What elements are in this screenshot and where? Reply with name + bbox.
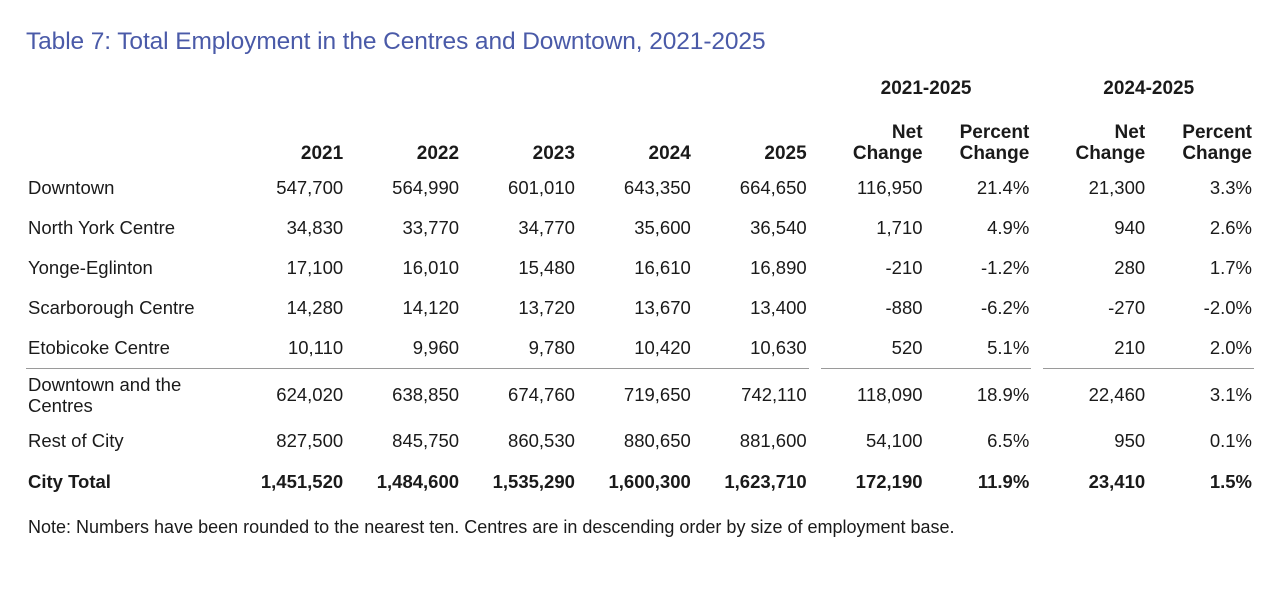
cell-percent-change-2024-2025: 1.7% xyxy=(1147,248,1254,288)
cell-2023: 674,760 xyxy=(461,369,577,422)
cell-gap-1 xyxy=(809,421,821,461)
column-header-net-change-2024-2025: Net Change xyxy=(1043,108,1147,168)
cell-net-change-2024-2025: 280 xyxy=(1043,248,1147,288)
cell-gap-2 xyxy=(1031,208,1043,248)
group-header-spacer-2022 xyxy=(345,72,461,108)
row-label: Downtown xyxy=(26,168,229,208)
group-header-spacer xyxy=(26,72,229,108)
cell-gap-2 xyxy=(1031,168,1043,208)
column-gap-2 xyxy=(1031,72,1043,108)
cell-2023: 601,010 xyxy=(461,168,577,208)
net-change-2-line2: Change xyxy=(1075,143,1145,164)
column-header-area xyxy=(26,108,229,168)
cell-2021: 34,830 xyxy=(229,208,345,248)
column-gap-4 xyxy=(1031,108,1043,168)
cell-2024: 643,350 xyxy=(577,168,693,208)
column-header-row: 2021 2022 2023 2024 2025 Net Change Perc… xyxy=(26,108,1254,168)
cell-2021: 827,500 xyxy=(229,421,345,461)
percent-change-line2: Change xyxy=(960,143,1030,164)
cell-gap-2 xyxy=(1031,248,1043,288)
cell-2022: 14,120 xyxy=(345,288,461,328)
cell-gap-2 xyxy=(1031,421,1043,461)
cell-percent-change-2024-2025: 3.3% xyxy=(1147,168,1254,208)
group-header-2024-2025: 2024-2025 xyxy=(1043,72,1254,108)
cell-percent-change-2021-2025: 4.9% xyxy=(925,208,1032,248)
row-label: Downtown and the Centres xyxy=(26,369,229,422)
column-gap-1 xyxy=(809,72,821,108)
cell-net-change-2021-2025: -210 xyxy=(821,248,925,288)
table-head: 2021-2025 2024-2025 2021 2022 2023 2024 … xyxy=(26,72,1254,168)
cell-2024: 1,600,300 xyxy=(577,461,693,503)
cell-2021: 14,280 xyxy=(229,288,345,328)
cell-net-change-2021-2025: 1,710 xyxy=(821,208,925,248)
group-header-2021-2025: 2021-2025 xyxy=(821,72,1031,108)
cell-2022: 638,850 xyxy=(345,369,461,422)
column-header-net-change-2021-2025: Net Change xyxy=(821,108,925,168)
cell-2022: 16,010 xyxy=(345,248,461,288)
cell-2024: 10,420 xyxy=(577,328,693,369)
cell-2025: 13,400 xyxy=(693,288,809,328)
cell-net-change-2024-2025: -270 xyxy=(1043,288,1147,328)
cell-2022: 845,750 xyxy=(345,421,461,461)
table-row-scarborough-centre: Scarborough Centre 14,280 14,120 13,720 … xyxy=(26,288,1254,328)
cell-percent-change-2021-2025: -1.2% xyxy=(925,248,1032,288)
cell-2024: 880,650 xyxy=(577,421,693,461)
cell-2023: 1,535,290 xyxy=(461,461,577,503)
cell-gap-2 xyxy=(1031,328,1043,369)
table-row-yonge-eglinton: Yonge-Eglinton 17,100 16,010 15,480 16,6… xyxy=(26,248,1254,288)
cell-percent-change-2021-2025: 11.9% xyxy=(925,461,1032,503)
group-header-spacer-2023 xyxy=(461,72,577,108)
column-header-2021: 2021 xyxy=(229,108,345,168)
cell-2021: 17,100 xyxy=(229,248,345,288)
cell-gap-1 xyxy=(809,248,821,288)
cell-net-change-2021-2025: 118,090 xyxy=(821,369,925,422)
group-header-spacer-2025 xyxy=(693,72,809,108)
column-header-2023: 2023 xyxy=(461,108,577,168)
cell-net-change-2024-2025: 940 xyxy=(1043,208,1147,248)
net-change-line2: Change xyxy=(853,143,923,164)
cell-gap-1 xyxy=(809,461,821,503)
cell-2025: 1,623,710 xyxy=(693,461,809,503)
cell-2024: 719,650 xyxy=(577,369,693,422)
percent-change-line1: Percent xyxy=(960,122,1030,143)
cell-2025: 881,600 xyxy=(693,421,809,461)
table-row-downtown: Downtown 547,700 564,990 601,010 643,350… xyxy=(26,168,1254,208)
group-header-spacer-2024 xyxy=(577,72,693,108)
column-header-2022: 2022 xyxy=(345,108,461,168)
cell-net-change-2024-2025: 23,410 xyxy=(1043,461,1147,503)
cell-gap-2 xyxy=(1031,288,1043,328)
cell-gap-1 xyxy=(809,288,821,328)
cell-2025: 16,890 xyxy=(693,248,809,288)
cell-2025: 664,650 xyxy=(693,168,809,208)
table-body: Downtown 547,700 564,990 601,010 643,350… xyxy=(26,168,1254,503)
cell-2022: 33,770 xyxy=(345,208,461,248)
cell-percent-change-2024-2025: 1.5% xyxy=(1147,461,1254,503)
percent-change-2-line1: Percent xyxy=(1182,122,1252,143)
column-header-percent-change-2024-2025: Percent Change xyxy=(1147,108,1254,168)
cell-2021: 624,020 xyxy=(229,369,345,422)
cell-percent-change-2024-2025: 2.6% xyxy=(1147,208,1254,248)
cell-2024: 35,600 xyxy=(577,208,693,248)
net-change-line1: Net xyxy=(892,122,923,143)
page-title: Table 7: Total Employment in the Centres… xyxy=(26,0,1254,56)
group-header-spacer-2021 xyxy=(229,72,345,108)
cell-percent-change-2024-2025: 0.1% xyxy=(1147,421,1254,461)
column-header-percent-change-2021-2025: Percent Change xyxy=(925,108,1032,168)
cell-2021: 10,110 xyxy=(229,328,345,369)
cell-percent-change-2021-2025: 18.9% xyxy=(925,369,1032,422)
cell-2025: 10,630 xyxy=(693,328,809,369)
cell-percent-change-2024-2025: -2.0% xyxy=(1147,288,1254,328)
row-label: Etobicoke Centre xyxy=(26,328,229,369)
cell-percent-change-2024-2025: 2.0% xyxy=(1147,328,1254,369)
cell-percent-change-2021-2025: -6.2% xyxy=(925,288,1032,328)
cell-net-change-2021-2025: 116,950 xyxy=(821,168,925,208)
cell-2022: 564,990 xyxy=(345,168,461,208)
column-header-2024: 2024 xyxy=(577,108,693,168)
cell-net-change-2024-2025: 22,460 xyxy=(1043,369,1147,422)
row-label: Rest of City xyxy=(26,421,229,461)
row-label: Scarborough Centre xyxy=(26,288,229,328)
cell-2025: 36,540 xyxy=(693,208,809,248)
cell-net-change-2021-2025: 54,100 xyxy=(821,421,925,461)
row-label: City Total xyxy=(26,461,229,503)
employment-table: 2021-2025 2024-2025 2021 2022 2023 2024 … xyxy=(26,72,1254,503)
column-header-2025: 2025 xyxy=(693,108,809,168)
percent-change-2-line2: Change xyxy=(1182,143,1252,164)
table-row-downtown-and-the-centres: Downtown and the Centres 624,020 638,850… xyxy=(26,369,1254,422)
cell-2022: 9,960 xyxy=(345,328,461,369)
cell-gap-2 xyxy=(1031,461,1043,503)
cell-2021: 547,700 xyxy=(229,168,345,208)
cell-gap-1 xyxy=(809,328,821,369)
column-gap-3 xyxy=(809,108,821,168)
cell-gap-1 xyxy=(809,208,821,248)
cell-2022: 1,484,600 xyxy=(345,461,461,503)
cell-2024: 13,670 xyxy=(577,288,693,328)
net-change-2-line1: Net xyxy=(1115,122,1146,143)
cell-2025: 742,110 xyxy=(693,369,809,422)
cell-percent-change-2021-2025: 6.5% xyxy=(925,421,1032,461)
table-row-city-total: City Total 1,451,520 1,484,600 1,535,290… xyxy=(26,461,1254,503)
table-row-rest-of-city: Rest of City 827,500 845,750 860,530 880… xyxy=(26,421,1254,461)
cell-percent-change-2021-2025: 5.1% xyxy=(925,328,1032,369)
cell-gap-2 xyxy=(1031,369,1043,422)
table-row-etobicoke-centre: Etobicoke Centre 10,110 9,960 9,780 10,4… xyxy=(26,328,1254,369)
table-page: Table 7: Total Employment in the Centres… xyxy=(0,0,1280,593)
cell-net-change-2021-2025: 520 xyxy=(821,328,925,369)
cell-gap-1 xyxy=(809,168,821,208)
group-header-row: 2021-2025 2024-2025 xyxy=(26,72,1254,108)
table-note: Note: Numbers have been rounded to the n… xyxy=(26,503,1254,538)
cell-net-change-2024-2025: 210 xyxy=(1043,328,1147,369)
cell-2023: 9,780 xyxy=(461,328,577,369)
cell-gap-1 xyxy=(809,369,821,422)
cell-2023: 34,770 xyxy=(461,208,577,248)
cell-net-change-2021-2025: -880 xyxy=(821,288,925,328)
cell-net-change-2024-2025: 21,300 xyxy=(1043,168,1147,208)
cell-2021: 1,451,520 xyxy=(229,461,345,503)
cell-percent-change-2024-2025: 3.1% xyxy=(1147,369,1254,422)
cell-percent-change-2021-2025: 21.4% xyxy=(925,168,1032,208)
row-label: North York Centre xyxy=(26,208,229,248)
table-row-north-york-centre: North York Centre 34,830 33,770 34,770 3… xyxy=(26,208,1254,248)
cell-2024: 16,610 xyxy=(577,248,693,288)
cell-net-change-2024-2025: 950 xyxy=(1043,421,1147,461)
row-label: Yonge-Eglinton xyxy=(26,248,229,288)
cell-net-change-2021-2025: 172,190 xyxy=(821,461,925,503)
cell-2023: 13,720 xyxy=(461,288,577,328)
cell-2023: 860,530 xyxy=(461,421,577,461)
cell-2023: 15,480 xyxy=(461,248,577,288)
